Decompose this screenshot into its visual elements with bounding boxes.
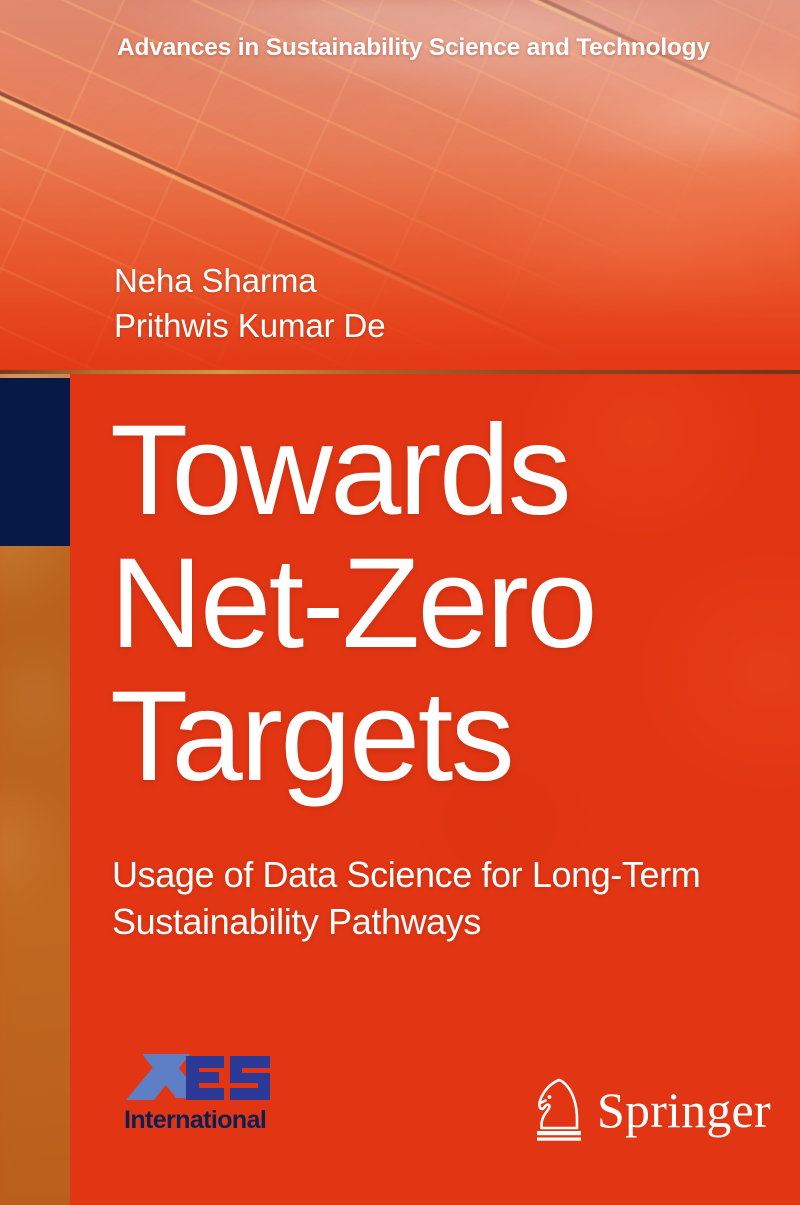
book-title-line: Targets: [110, 670, 595, 803]
kes-wordmark-icon: [124, 1052, 274, 1108]
kes-international-label: International: [124, 1106, 274, 1134]
springer-knight-icon: [529, 1075, 591, 1143]
springer-logo: Springer: [529, 1072, 739, 1152]
navy-spine-block: [0, 378, 70, 546]
banner-bottom-edge-line: [0, 370, 800, 374]
book-subtitle-line: Sustainability Pathways: [112, 898, 700, 945]
book-subtitle: Usage of Data Science for Long-Term Sust…: [112, 851, 700, 945]
kes-international-logo: International: [124, 1052, 274, 1144]
book-title: Towards Net-Zero Targets: [110, 404, 595, 803]
series-title: Advances in Sustainability Science and T…: [117, 34, 710, 62]
author-name: Prithwis Kumar De: [114, 303, 386, 348]
author-list: Neha Sharma Prithwis Kumar De: [114, 258, 386, 348]
book-cover: Advances in Sustainability Science and T…: [0, 0, 800, 1205]
book-subtitle-line: Usage of Data Science for Long-Term: [112, 851, 700, 898]
book-title-line: Net-Zero: [110, 537, 595, 670]
book-title-line: Towards: [110, 404, 595, 537]
springer-wordmark: Springer: [597, 1082, 771, 1138]
author-name: Neha Sharma: [114, 258, 386, 303]
